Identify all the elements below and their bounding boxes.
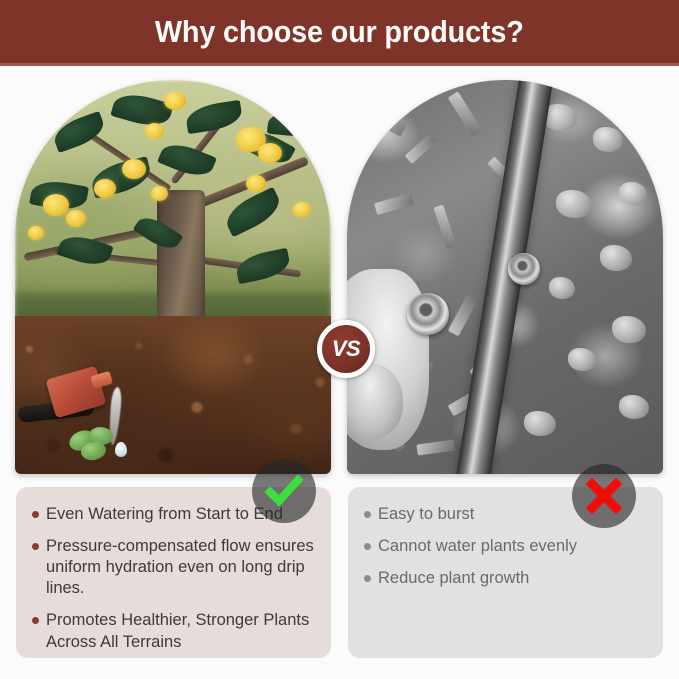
- osmanthus-flower: [66, 210, 86, 227]
- gravel-stone: [549, 277, 575, 299]
- comparison-section: VS: [0, 72, 679, 472]
- osmanthus-flower: [28, 226, 44, 240]
- osmanthus-flower: [94, 179, 116, 198]
- drip-emitter-in-hand: [407, 293, 449, 335]
- bullet-dot-icon: [32, 543, 39, 550]
- product-photo-bad: [347, 80, 663, 474]
- gravel-stone: [619, 182, 647, 205]
- photo-inner-good: [15, 80, 331, 474]
- osmanthus-flower: [145, 123, 164, 139]
- bullet-dot-icon: [32, 511, 39, 518]
- vs-label: VS: [332, 336, 360, 362]
- verdict-badge-bad: [572, 464, 636, 528]
- verdict-badge-good: [252, 459, 316, 523]
- photo-inner-bad: [347, 80, 663, 474]
- product-photo-good: [15, 80, 331, 474]
- bullet-dot-icon: [364, 511, 371, 518]
- bullet-dot-icon: [364, 575, 371, 582]
- header-underline: [0, 63, 679, 66]
- cross-icon: [584, 476, 624, 516]
- bullet-dot-icon: [364, 543, 371, 550]
- list-item: Cannot water plants evenly: [364, 536, 647, 557]
- gravel-stone: [600, 245, 632, 271]
- osmanthus-flower: [246, 175, 266, 192]
- page-header: Why choose our products?: [0, 0, 679, 63]
- list-item-text: Easy to burst: [378, 504, 474, 525]
- page-title: Why choose our products?: [155, 14, 524, 50]
- gravel-stone: [593, 127, 623, 152]
- vs-badge: VS: [317, 320, 375, 378]
- list-item: Promotes Healthier, Stronger Plants Acro…: [32, 610, 315, 652]
- osmanthus-flower: [164, 92, 186, 110]
- gravel-stone: [619, 395, 649, 419]
- pros-list: Even Watering from Start to End Pressure…: [32, 504, 315, 653]
- bullet-dot-icon: [32, 617, 39, 624]
- seedling-sprout: [69, 427, 129, 461]
- gravel-stone: [556, 190, 592, 218]
- list-item-text: Promotes Healthier, Stronger Plants Acro…: [46, 610, 315, 652]
- list-item-text: Pressure-compensated flow ensures unifor…: [46, 536, 315, 599]
- gravel-stone: [612, 316, 646, 343]
- check-icon: [263, 470, 305, 512]
- gravel-stone: [524, 411, 556, 436]
- list-item-text: Even Watering from Start to End: [46, 504, 283, 525]
- list-item: Pressure-compensated flow ensures unifor…: [32, 536, 315, 599]
- gravel-stone: [568, 348, 596, 371]
- list-item-text: Reduce plant growth: [378, 568, 529, 589]
- list-item-text: Cannot water plants evenly: [378, 536, 577, 557]
- list-item: Reduce plant growth: [364, 568, 647, 589]
